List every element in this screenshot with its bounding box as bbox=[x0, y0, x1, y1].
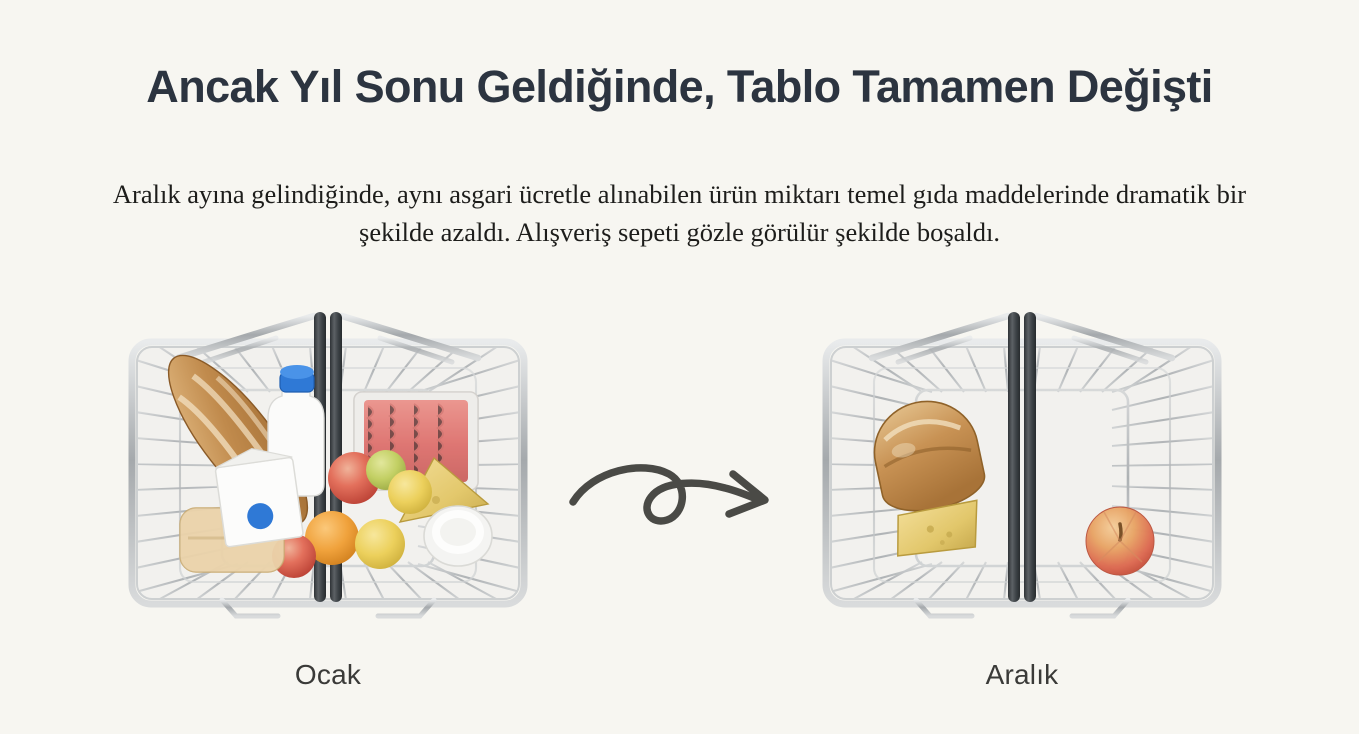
basket-january: Ocak bbox=[118, 300, 538, 691]
basket-handle-grip bbox=[1008, 312, 1020, 602]
page-subtitle: Aralık ayına gelindiğinde, aynı asgari ü… bbox=[110, 176, 1250, 251]
slide-root: Ancak Yıl Sonu Geldiğinde, Tablo Tamamen… bbox=[0, 0, 1359, 734]
page-title: Ancak Yıl Sonu Geldiğinde, Tablo Tamamen… bbox=[0, 62, 1359, 112]
basket-january-caption: Ocak bbox=[118, 659, 538, 691]
item-apple-yellow bbox=[355, 519, 405, 569]
transition-arrow bbox=[565, 440, 785, 550]
item-yogurt-cup bbox=[424, 506, 492, 566]
basket-december-svg bbox=[812, 300, 1232, 645]
curly-arrow-right-icon bbox=[565, 440, 785, 550]
item-apple-red bbox=[1086, 507, 1154, 575]
basket-january-svg bbox=[118, 300, 538, 645]
basket-december-image bbox=[812, 300, 1232, 645]
basket-december-caption: Aralık bbox=[812, 659, 1232, 691]
item-pear bbox=[388, 470, 432, 514]
basket-december: Aralık bbox=[812, 300, 1232, 691]
basket-january-image bbox=[118, 300, 538, 645]
basket-comparison: Ocak bbox=[0, 300, 1359, 720]
